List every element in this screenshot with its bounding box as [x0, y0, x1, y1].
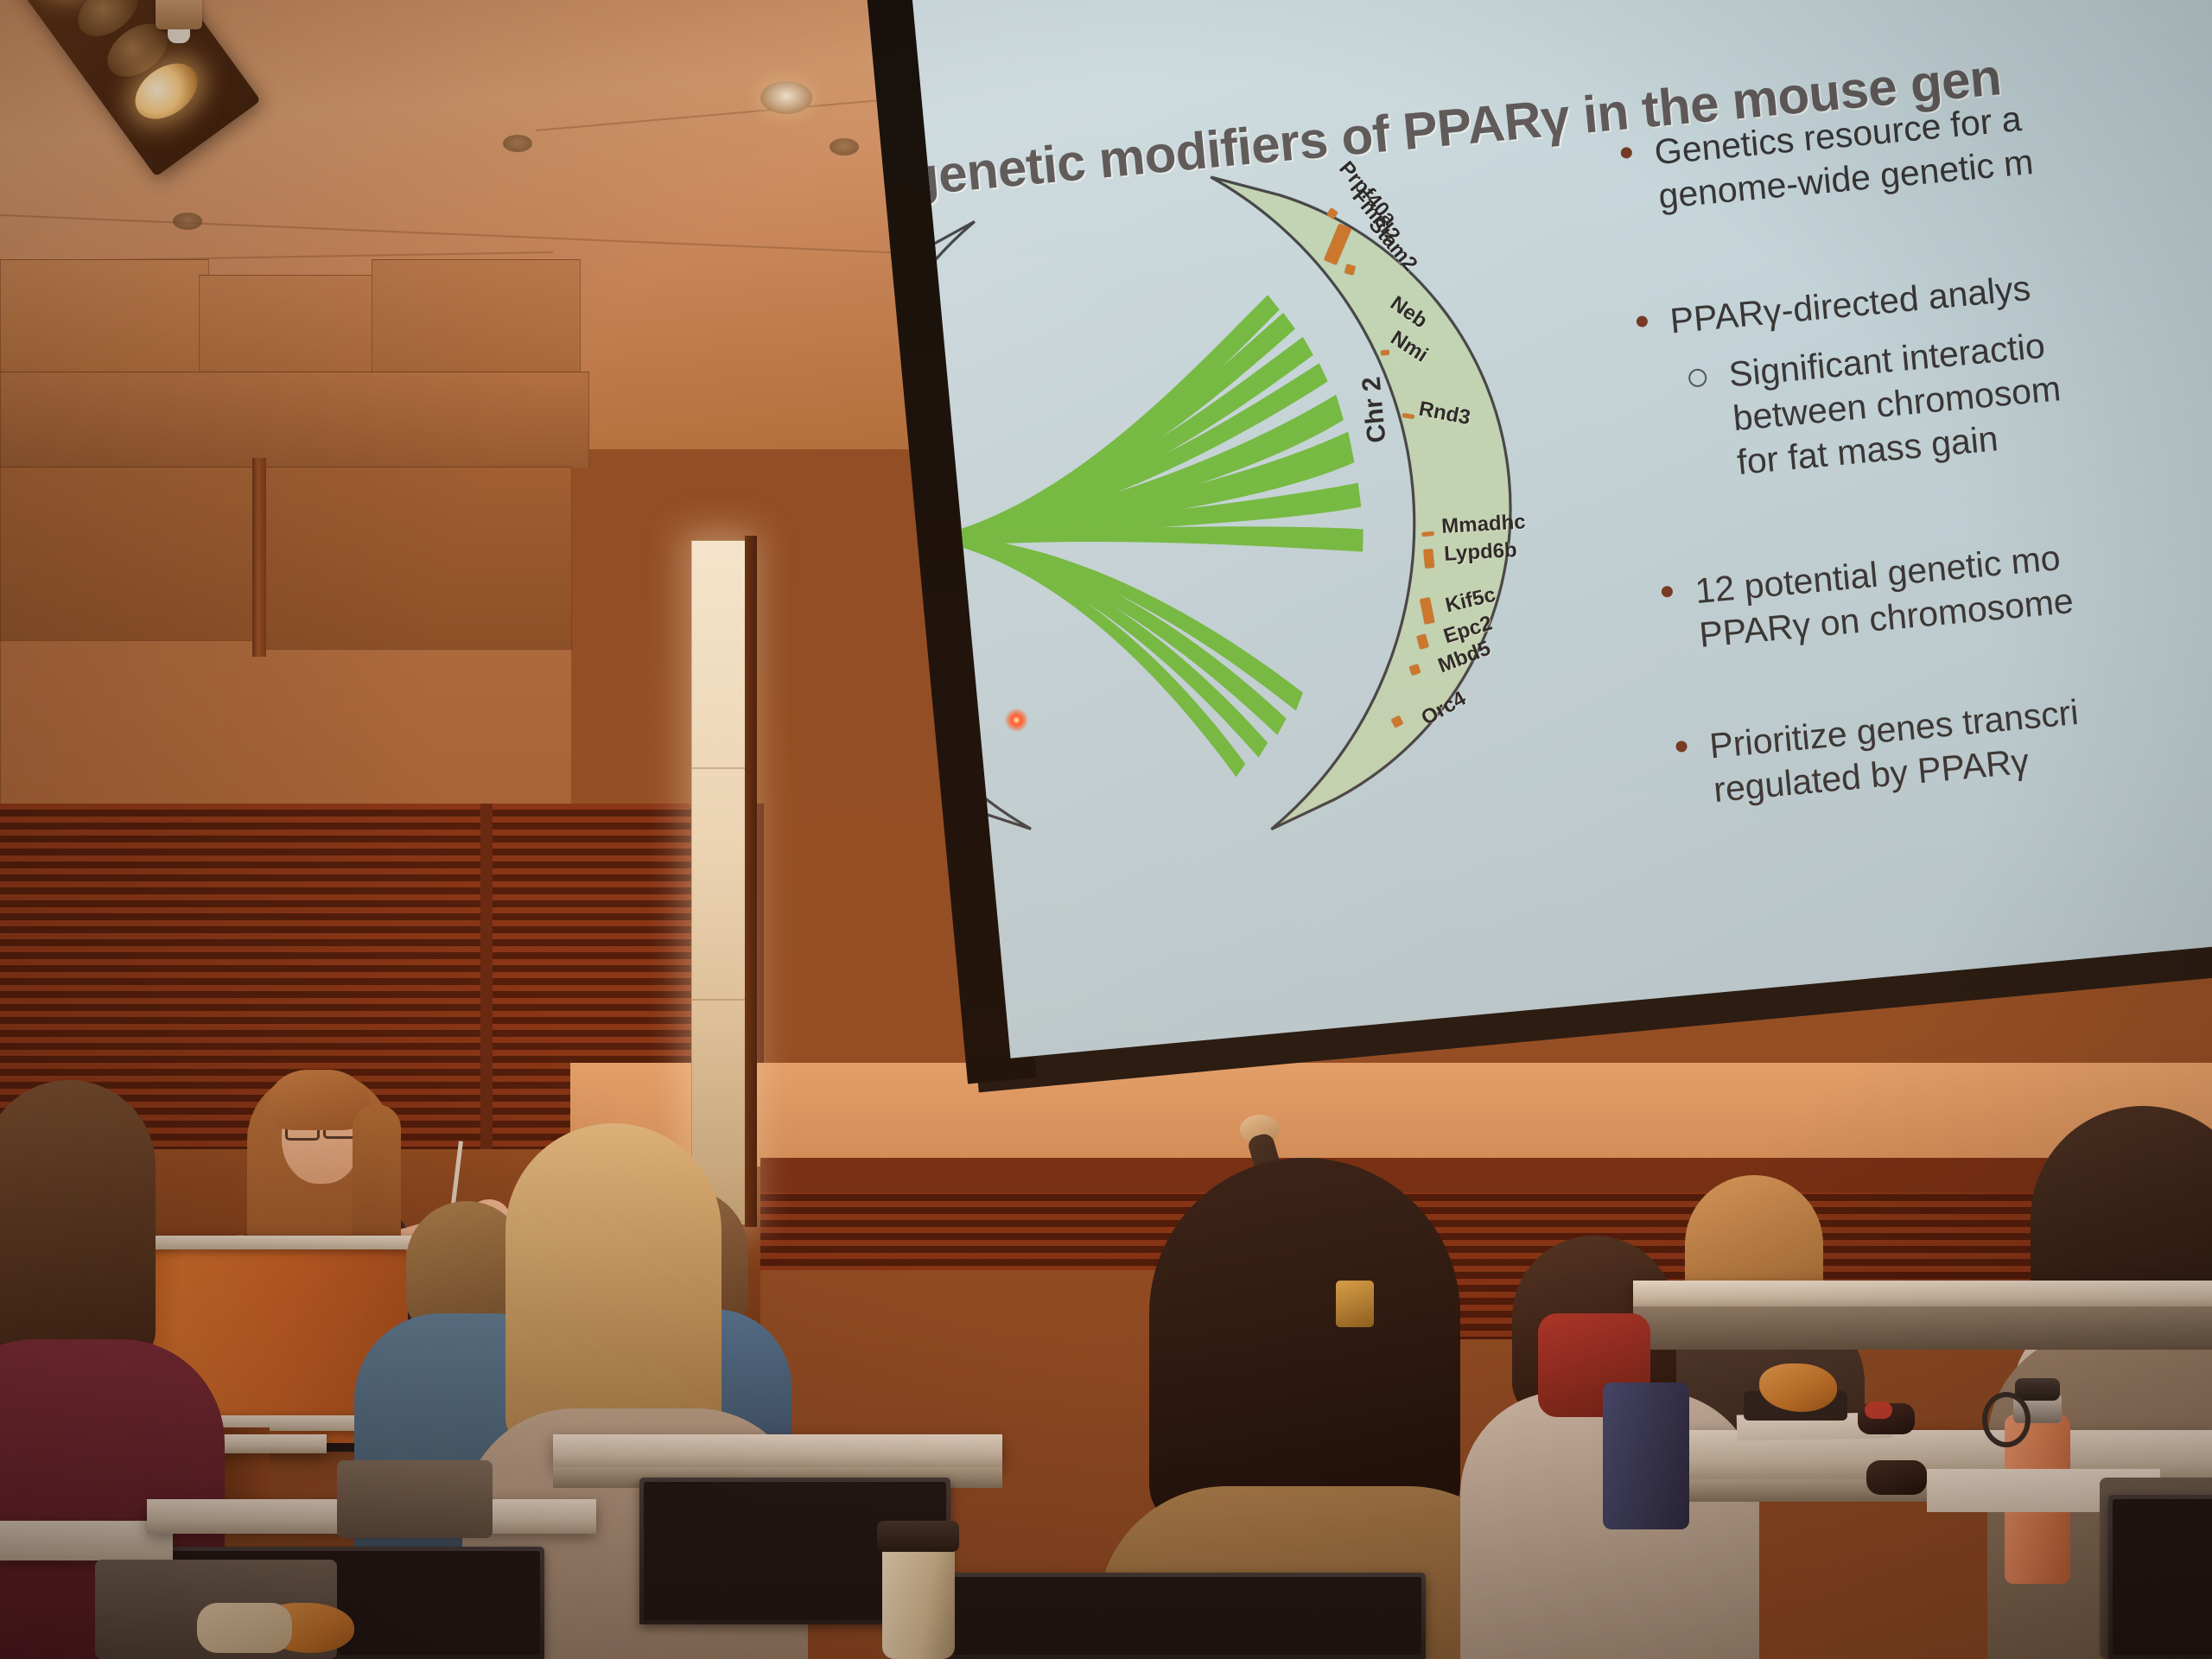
- sprinkler-head: [156, 0, 202, 29]
- column-seam: [692, 999, 747, 1001]
- wood-wall: [259, 467, 572, 650]
- snack-wrapper: [197, 1603, 292, 1653]
- bullet-subitem: Significant interactio between chromosom…: [1687, 322, 2067, 487]
- ceiling-downlight: [503, 135, 532, 152]
- bullet-marker-disc: [1675, 741, 1688, 753]
- desk-row: [553, 1434, 1002, 1469]
- gene-label-mmadhc: Mmadhc: [1441, 510, 1527, 539]
- gene-tick: [1423, 549, 1434, 569]
- ceiling-downlight: [173, 213, 202, 230]
- bottle-handle: [1982, 1392, 2031, 1447]
- small-dark-object: [1866, 1460, 1927, 1495]
- ceiling-downlight: [829, 138, 859, 156]
- hair-clip: [1336, 1281, 1374, 1327]
- bullet-item: Prioritize genes transcri regulated by P…: [1674, 690, 2084, 815]
- wall-under-screen: [570, 1063, 2212, 1166]
- wood-wall: [0, 467, 261, 641]
- slide-surface: Are there genetic modifiers of PPARγ in …: [912, 0, 2212, 1058]
- wall-column: [252, 458, 266, 657]
- ceiling-downlight: [760, 81, 812, 114]
- column-seam: [692, 767, 747, 769]
- bullet-marker-disc: [1620, 147, 1632, 159]
- audience-hair: [1149, 1158, 1460, 1529]
- coffee-cup: [877, 1521, 959, 1659]
- bullet-item: 12 potential genetic mo PPARγ on chromos…: [1660, 535, 2075, 660]
- cup-blue: [1603, 1382, 1689, 1529]
- audience-hair: [505, 1123, 721, 1452]
- chr2-label: Chr 2: [1357, 375, 1393, 444]
- illuminated-wall-column: [691, 540, 748, 1224]
- back-wall-panel: [0, 259, 209, 382]
- gene-tick: [1381, 350, 1390, 356]
- circos-chord-diagram: Chr 6 Chr 2 Mbd4 Tmem40 Raf1 Mkrn2 Tsen2…: [912, 113, 1631, 908]
- bottle-cap: [2015, 1378, 2060, 1401]
- cup-lid: [877, 1521, 959, 1552]
- cup-body: [882, 1545, 955, 1659]
- gene-label-lypd6b: Lypd6b: [1444, 538, 1518, 567]
- small-device-light: [1865, 1402, 1892, 1419]
- audience-hair: [0, 1080, 156, 1365]
- back-wall-panel: [0, 372, 589, 468]
- bullet-text: Significant interactio between chromosom…: [1727, 322, 2067, 484]
- bullet-text: Prioritize genes transcri regulated by P…: [1707, 690, 2084, 812]
- laptop: [925, 1573, 1426, 1659]
- bullet-marker-disc: [1661, 586, 1673, 598]
- laptop: [2108, 1495, 2212, 1659]
- bullet-text: 12 potential genetic mo PPARγ on chromos…: [1694, 535, 2075, 657]
- lecture-hall-photo: Are there genetic modifiers of PPARγ in …: [0, 0, 2212, 1659]
- bullet-marker-circle: [1688, 368, 1707, 388]
- chair-back: [337, 1460, 493, 1538]
- desk-row: [1633, 1281, 2212, 1310]
- bullet-marker-disc: [1636, 315, 1648, 327]
- desk-edge: [1633, 1306, 2212, 1350]
